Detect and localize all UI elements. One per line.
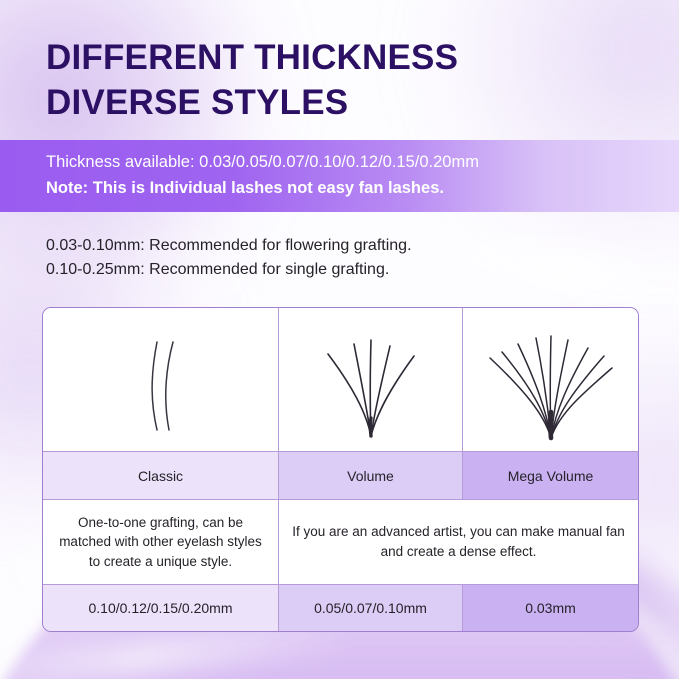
thickness-cell-mega-volume: 0.03mm	[463, 585, 638, 631]
cell-illustration-volume	[279, 308, 463, 451]
recommendation-list: 0.03-0.10mm: Recommended for flowering g…	[46, 234, 626, 282]
volume-fan-illustration	[306, 312, 436, 447]
recommendation-item-flowering: 0.03-0.10mm: Recommended for flowering g…	[46, 234, 626, 258]
banner-thickness-text: Thickness available: 0.03/0.05/0.07/0.10…	[0, 150, 679, 176]
thickness-banner: Thickness available: 0.03/0.05/0.07/0.10…	[0, 140, 679, 212]
label-cell-volume: Volume	[279, 452, 463, 499]
classic-lash-illustration	[101, 312, 221, 447]
cell-illustration-classic	[43, 308, 279, 451]
cell-illustration-mega-volume	[463, 308, 638, 451]
page-title-line-2: DIVERSE STYLES	[46, 81, 636, 126]
banner-note-text: Note: This is Individual lashes not easy…	[0, 176, 679, 202]
table-row-descriptions: One-to-one grafting, can be matched with…	[43, 500, 638, 585]
page-title-line-1: DIFFERENT THICKNESS	[46, 36, 636, 81]
mega-volume-fan-illustration	[476, 312, 626, 447]
label-cell-classic: Classic	[43, 452, 279, 499]
page-title: DIFFERENT THICKNESS DIVERSE STYLES	[46, 36, 636, 126]
lash-style-table: Classic Volume Mega Volume One-to-one gr…	[42, 307, 639, 632]
table-row-thickness: 0.10/0.12/0.15/0.20mm 0.05/0.07/0.10mm 0…	[43, 585, 638, 631]
recommendation-item-single: 0.10-0.25mm: Recommended for single graf…	[46, 258, 626, 282]
description-cell-classic: One-to-one grafting, can be matched with…	[43, 500, 279, 584]
table-row-labels: Classic Volume Mega Volume	[43, 452, 638, 500]
table-row-illustrations	[43, 308, 638, 452]
label-cell-mega-volume: Mega Volume	[463, 452, 638, 499]
thickness-cell-classic: 0.10/0.12/0.15/0.20mm	[43, 585, 279, 631]
description-cell-volume-merged: If you are an advanced artist, you can m…	[279, 500, 638, 584]
thickness-cell-volume: 0.05/0.07/0.10mm	[279, 585, 463, 631]
